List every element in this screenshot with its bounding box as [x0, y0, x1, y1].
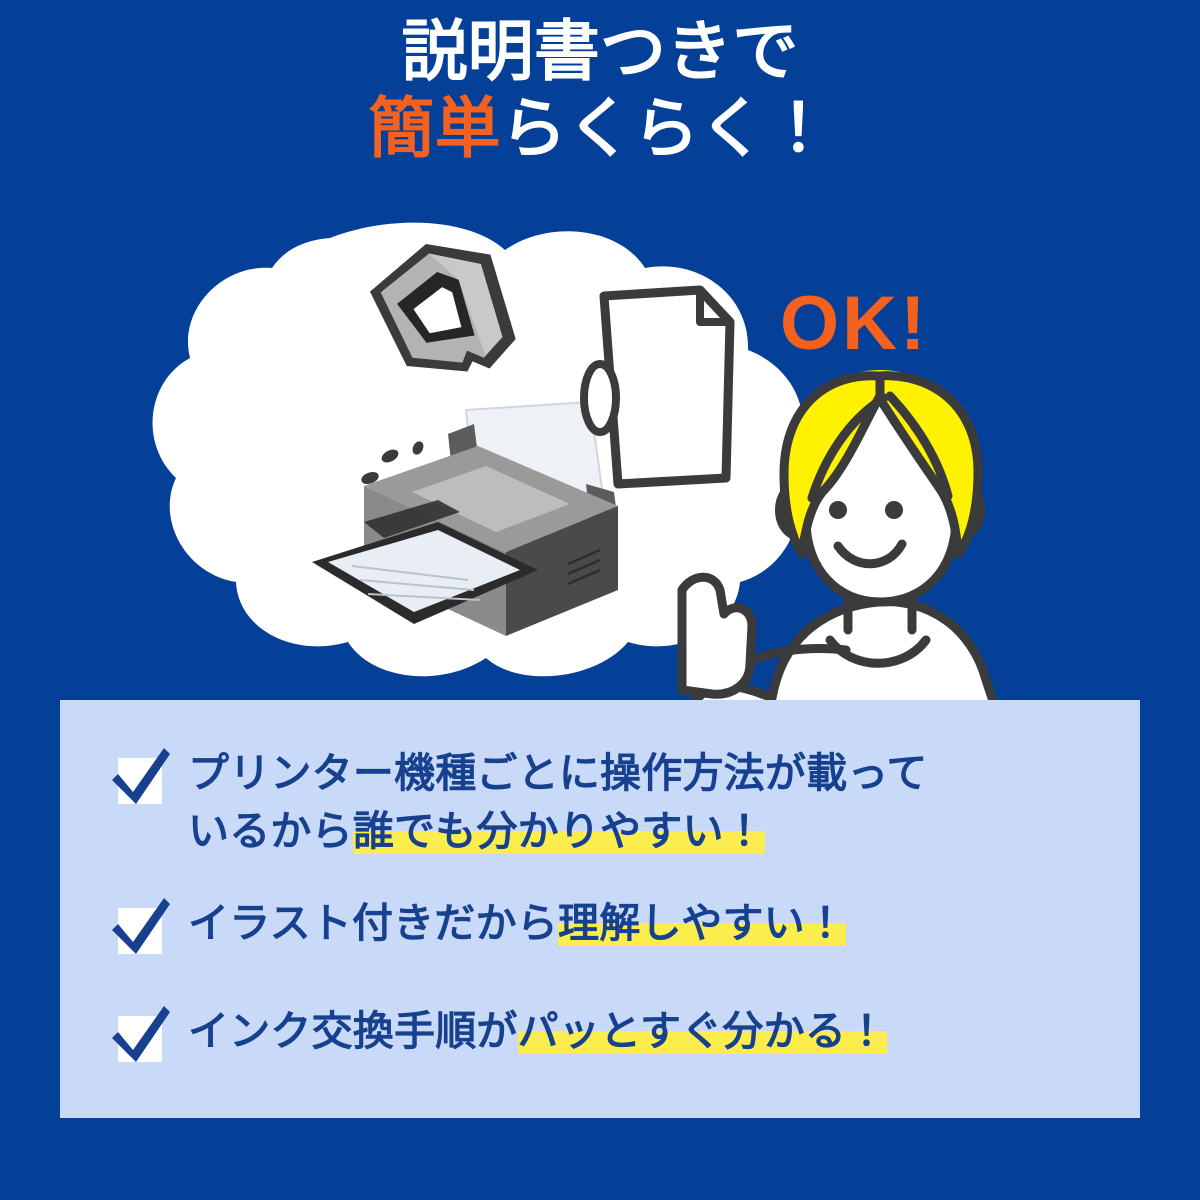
benefits-panel: プリンター機種ごとに操作方法が載って いるから誰でも分かりやすい！ イラスト付き…: [60, 700, 1140, 1118]
list-item: イラスト付きだから理解しやすい！: [106, 892, 1116, 958]
bullet-1-line1: プリンター機種ごとに操作方法が載って: [188, 750, 928, 796]
list-item: インク交換手順がパッとすぐ分かる！: [106, 1000, 1116, 1066]
bullet-2-highlight: 理解しやすい！: [558, 900, 846, 946]
list-item: プリンター機種ごとに操作方法が載って いるから誰でも分かりやすい！: [106, 742, 1116, 860]
list-item-text: イラスト付きだから理解しやすい！: [188, 892, 846, 952]
list-item-text: プリンター機種ごとに操作方法が載って いるから誰でも分かりやすい！: [188, 742, 928, 860]
bullet-1-line2-highlight: 誰でも分かりやすい！: [353, 808, 765, 854]
headline-rest-text: らくらく！: [501, 91, 832, 165]
checkmark-icon: [106, 1000, 172, 1066]
bullet-1-line2-plain: いるから: [188, 808, 353, 854]
headline-accent-text: 簡単: [368, 91, 500, 165]
page-title: 説明書つきで 簡単らくらく！: [0, 18, 1200, 163]
bullet-2-plain: イラスト付きだから: [188, 900, 558, 946]
headline-line-1: 説明書つきで: [0, 18, 1200, 85]
poster-canvas: 説明書つきで 簡単らくらく！ OK!: [0, 0, 1200, 1200]
bullet-3-highlight: パッとすぐ分かる！: [518, 1008, 888, 1054]
checkmark-icon: [106, 742, 172, 808]
list-item-text: インク交換手順がパッとすぐ分かる！: [188, 1000, 887, 1060]
checkmark-icon: [106, 892, 172, 958]
headline-line-2: 簡単らくらく！: [0, 95, 1200, 162]
bullet-3-plain: インク交換手順が: [188, 1008, 518, 1054]
hero-illustration: [0, 210, 1010, 710]
